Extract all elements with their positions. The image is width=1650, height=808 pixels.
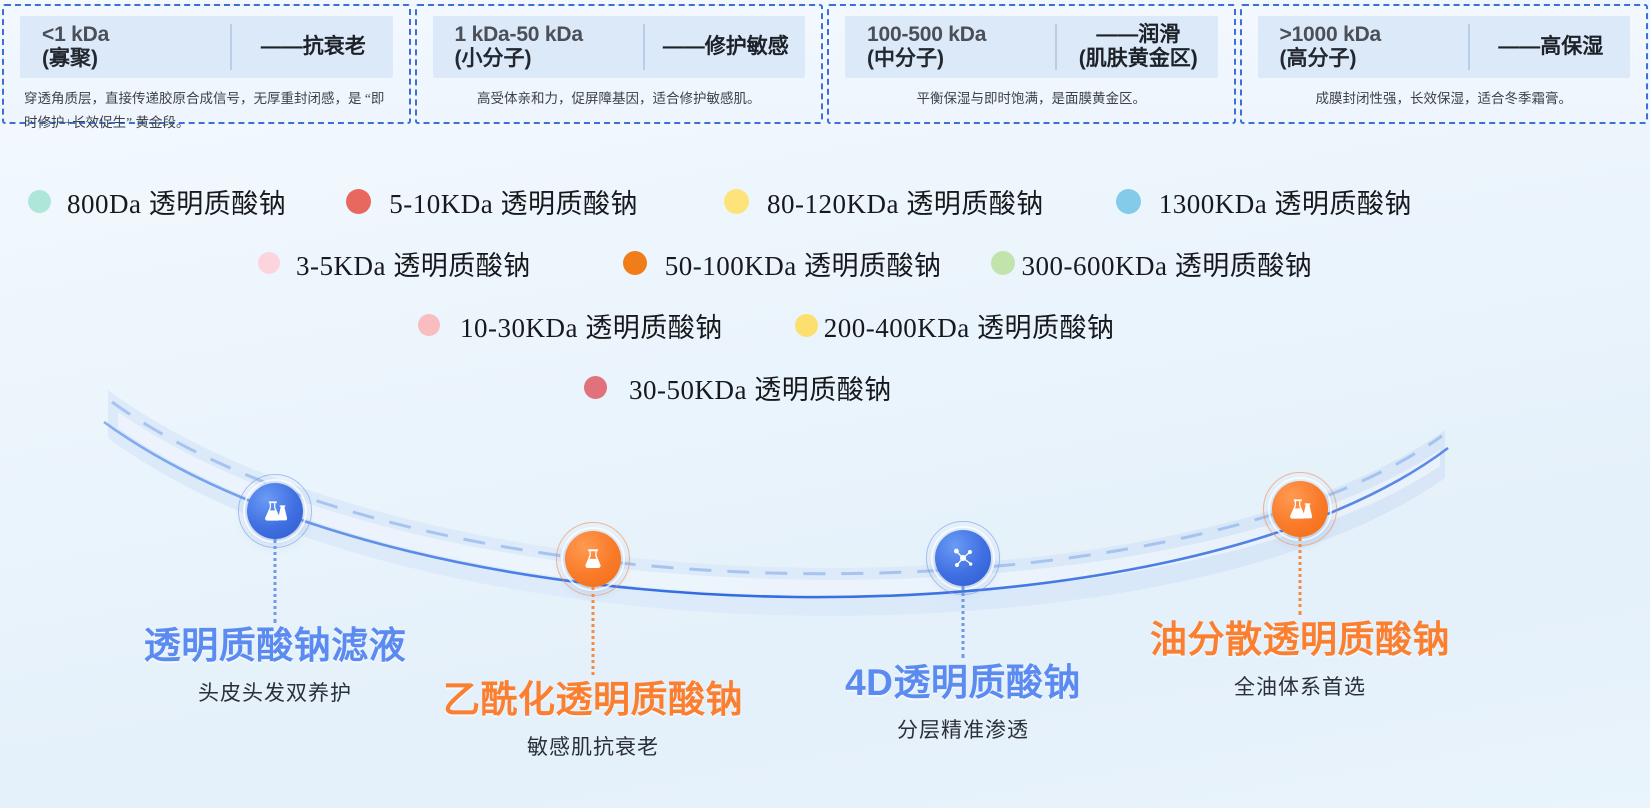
molecular-weight-card-band: <1 kDa (寡聚) ——抗衰老 穿透角质层，直接传递胶原合成信号，无厚重封闭… [0,0,1650,130]
card-header: >1000 kDa (高分子) ——高保湿 [1258,16,1631,78]
legend-label: 80-120KDa 透明质酸钠 [767,182,1044,221]
legend-item: 80-120KDa 透明质酸钠 [724,182,1044,221]
mw-range: 1 kDa-50 kDa [455,23,625,47]
milestone-icon-circle[interactable] [935,530,991,586]
infographic-stage: <1 kDa (寡聚) ——抗衰老 穿透角质层，直接传递胶原合成信号，无厚重封闭… [0,0,1650,808]
milestone-node[interactable]: 透明质酸钠滤液 头皮头发双养护 [247,483,303,539]
milestone-icon-circle[interactable] [565,531,621,587]
legend-label: 50-100KDa 透明质酸钠 [665,244,942,283]
mw-description: 高受体亲和力，促屏障基因，适合修护敏感肌。 [433,87,806,111]
legend-color-dot [724,189,749,214]
milestone-subtitle: 敏感肌抗衰老 [443,731,743,761]
milestone-title: 4D透明质酸钠 [845,662,1081,705]
legend-label: 300-600KDa 透明质酸钠 [1021,244,1312,283]
milestone-subtitle: 全油体系首选 [1150,671,1450,701]
milestone-title: 油分散透明质酸钠 [1150,619,1450,662]
milestone-node[interactable]: 乙酰化透明质酸钠 敏感肌抗衰老 [565,531,621,587]
milestone-connector [274,539,277,623]
molecular-weight-card: >1000 kDa (高分子) ——高保湿 成膜封闭性强，长效保湿，适合冬季霜膏… [1240,4,1649,124]
legend-color-dot [623,251,647,275]
card-header-left: <1 kDa (寡聚) [20,16,230,78]
molecular-weight-card: 1 kDa-50 kDa (小分子) ——修护敏感 高受体亲和力，促屏障基因，适… [415,4,824,124]
milestone-title: 乙酰化透明质酸钠 [443,679,743,722]
legend-item: 200-400KDa 透明质酸钠 [795,306,1115,345]
milestone-text: 透明质酸钠滤液 头皮头发双养护 [144,625,407,707]
molecular-weight-card: 100-500 kDa (中分子) ——润滑 (肌肤黄金区) 平衡保湿与即时饱满… [827,4,1236,124]
mw-effect: ——润滑 [1075,23,1202,47]
milestone-connector [1299,537,1302,615]
card-header: <1 kDa (寡聚) ——抗衰老 [20,16,393,78]
mw-class-label: (高分子) [1280,47,1450,71]
legend-item: 5-10KDa 透明质酸钠 [346,182,638,221]
mw-range: 100-500 kDa [867,23,1037,47]
legend-color-dot [28,190,51,213]
milestone-text: 乙酰化透明质酸钠 敏感肌抗衰老 [443,679,743,761]
legend-label: 10-30KDa 透明质酸钠 [460,306,723,345]
card-header: 100-500 kDa (中分子) ——润滑 (肌肤黄金区) [845,16,1218,78]
legend-item: 800Da 透明质酸钠 [28,182,286,221]
legend-row: 800Da 透明质酸钠 5-10KDa 透明质酸钠 80-120KDa 透明质酸… [0,170,1650,232]
mw-description: 穿透角质层，直接传递胶原合成信号，无厚重封闭感，是 “即时修护+长效促生” 黄金… [20,87,393,134]
flask-icon [1286,495,1314,523]
mw-range: >1000 kDa [1280,23,1450,47]
legend-label: 200-400KDa 透明质酸钠 [824,306,1115,345]
mw-class-label: (寡聚) [42,47,212,71]
milestone-text: 4D透明质酸钠 分层精准渗透 [845,662,1081,744]
curve-graphic [0,370,1650,808]
card-header-right: ——高保湿 [1470,16,1631,78]
card-header: 1 kDa-50 kDa (小分子) ——修护敏感 [433,16,806,78]
card-header-left: 1 kDa-50 kDa (小分子) [433,16,643,78]
card-header-right: ——修护敏感 [645,16,806,78]
legend-label: 5-10KDa 透明质酸钠 [389,182,638,221]
milestone-text: 油分散透明质酸钠 全油体系首选 [1150,619,1450,701]
card-header-right: ——抗衰老 [232,16,393,78]
milestone-subtitle: 分层精准渗透 [845,714,1081,744]
legend-color-dot [1116,189,1141,214]
mw-effect-secondary: (肌肤黄金区) [1075,47,1202,71]
card-header-left: 100-500 kDa (中分子) [845,16,1055,78]
milestone-connector [592,587,595,675]
legend-color-dot [795,314,818,337]
legend-item: 10-30KDa 透明质酸钠 [418,306,723,345]
mw-effect: ——高保湿 [1488,35,1615,59]
mw-effect: ——修护敏感 [663,35,790,59]
legend-color-dot [991,251,1015,275]
legend-color-dot [418,314,440,336]
milestone-subtitle: 头皮头发双养护 [144,677,407,707]
mw-class-label: (中分子) [867,47,1037,71]
mw-description: 平衡保湿与即时饱满，是面膜黄金区。 [845,87,1218,111]
legend-label: 800Da 透明质酸钠 [67,182,286,221]
molecule-icon [948,543,978,573]
legend-row: 3-5KDa 透明质酸钠 50-100KDa 透明质酸钠 300-600KDa … [0,232,1650,294]
card-header-right: ——润滑 (肌肤黄金区) [1057,16,1218,78]
timeline-curve-section: 透明质酸钠滤液 头皮头发双养护 乙酰化透明质酸钠 敏感肌抗衰老 [0,370,1650,808]
flask-icon [261,497,289,525]
legend-item: 300-600KDa 透明质酸钠 [991,244,1312,283]
molecular-weight-card: <1 kDa (寡聚) ——抗衰老 穿透角质层，直接传递胶原合成信号，无厚重封闭… [2,4,411,124]
legend-item: 50-100KDa 透明质酸钠 [623,244,942,283]
mw-class-label: (小分子) [455,47,625,71]
legend-row: 10-30KDa 透明质酸钠 200-400KDa 透明质酸钠 [0,294,1650,356]
legend-item: 1300KDa 透明质酸钠 [1116,182,1412,221]
beaker-icon [580,546,606,572]
legend-color-dot [346,189,371,214]
mw-description: 成膜封闭性强，长效保湿，适合冬季霜膏。 [1258,87,1631,111]
mw-range: <1 kDa [42,23,212,47]
milestone-icon-circle[interactable] [247,483,303,539]
milestone-icon-circle[interactable] [1272,481,1328,537]
milestone-node[interactable]: 油分散透明质酸钠 全油体系首选 [1272,481,1328,537]
milestone-connector [962,586,965,658]
legend-color-dot [258,252,280,274]
legend-item: 3-5KDa 透明质酸钠 [258,244,531,283]
milestone-node[interactable]: 4D透明质酸钠 分层精准渗透 [935,530,991,586]
legend-label: 3-5KDa 透明质酸钠 [296,244,531,283]
card-header-left: >1000 kDa (高分子) [1258,16,1468,78]
legend-label: 1300KDa 透明质酸钠 [1159,182,1412,221]
milestone-title: 透明质酸钠滤液 [144,625,407,668]
mw-effect: ——抗衰老 [250,35,377,59]
